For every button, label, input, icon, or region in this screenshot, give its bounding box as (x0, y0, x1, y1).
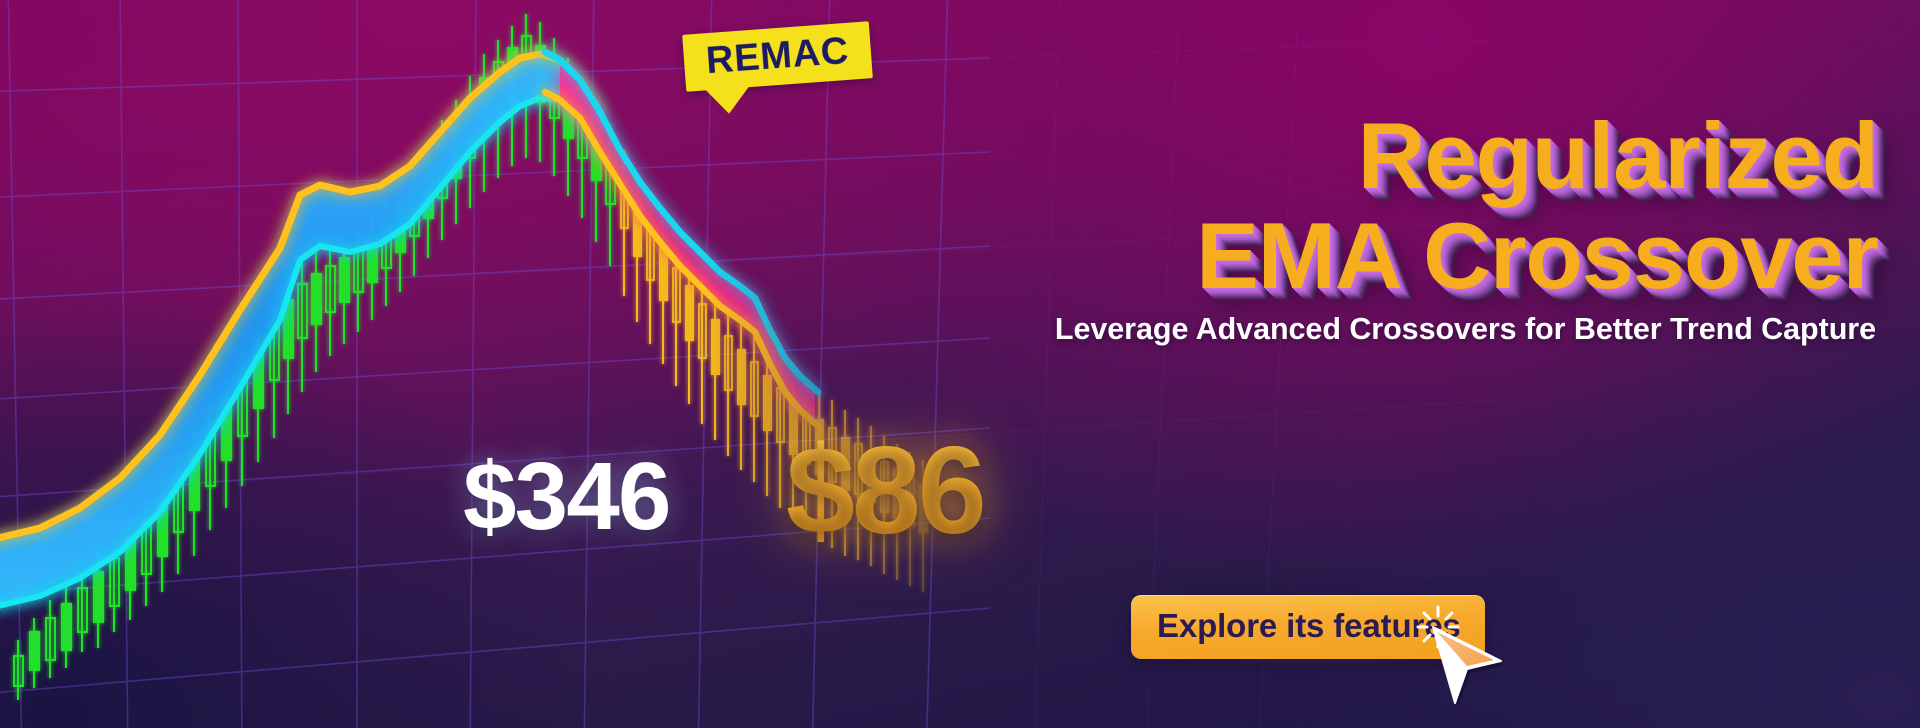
remac-badge-label: REMAC (705, 32, 851, 80)
cta-container: Explore its features (1131, 595, 1485, 659)
candlestick-chart (0, 0, 980, 728)
explore-features-button[interactable]: Explore its features (1131, 595, 1485, 659)
original-price: $346 (463, 442, 670, 552)
title-line-2: EMA Crossover (1196, 208, 1878, 304)
sale-price: $86 (786, 420, 984, 562)
promo-banner: REMAC Regularized EMA Crossover Leverage… (0, 0, 1920, 728)
badge-pointer-triangle-icon (704, 85, 752, 115)
cta-label: Explore its features (1157, 607, 1461, 645)
subtitle: Leverage Advanced Crossovers for Better … (1055, 312, 1876, 347)
title-line-1: Regularized (1196, 108, 1878, 204)
page-title: Regularized EMA Crossover (1196, 108, 1878, 304)
